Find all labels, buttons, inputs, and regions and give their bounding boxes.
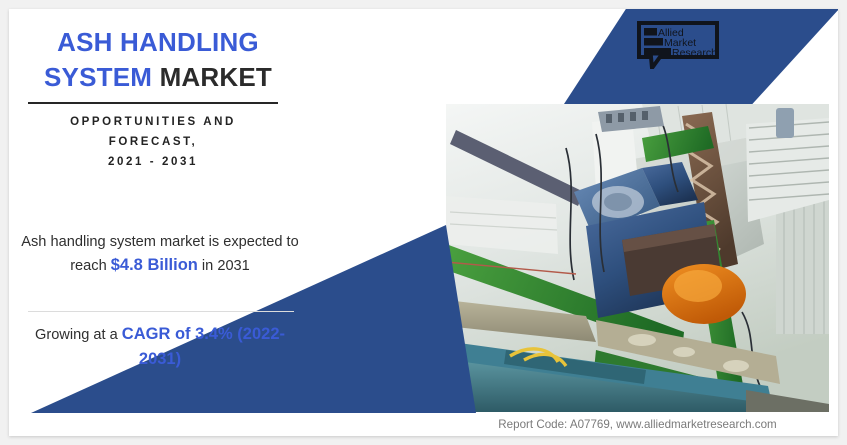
stat-cagr-value: CAGR of 3.4% (2022-2031): [122, 325, 285, 368]
infographic-screen: Allied Market Research ASH HANDLING SYST…: [0, 0, 847, 445]
photo-artwork: [446, 104, 829, 412]
page-title-suffix: MARKET: [160, 62, 272, 92]
stat-divider: [28, 311, 294, 312]
infographic-card: Allied Market Research ASH HANDLING SYST…: [9, 9, 838, 436]
subtitle-line-3: 2021 - 2031: [28, 153, 278, 173]
subtitle: OPPORTUNITIES AND FORECAST, 2021 - 2031: [28, 113, 278, 172]
stat-cagr: Growing at a CAGR of 3.4% (2022-2031): [19, 322, 301, 372]
stat-cagr-prefix: Growing at a: [35, 327, 122, 343]
stat-market-size: Ash handling system market is expected t…: [19, 231, 301, 278]
title-divider: [28, 102, 278, 104]
subtitle-line-2: FORECAST,: [28, 133, 278, 153]
industrial-ash-handling-equipment-photo: [446, 104, 829, 412]
stat-market-size-value: $4.8 Billion: [111, 256, 198, 274]
page-title: ASH HANDLING SYSTEM MARKET: [28, 25, 288, 94]
stat-market-size-suffix: in 2031: [198, 258, 250, 274]
logo-line-3: Research: [672, 47, 717, 59]
allied-market-research-logo[interactable]: Allied Market Research: [636, 21, 720, 69]
subtitle-line-1: OPPORTUNITIES AND: [28, 113, 278, 133]
report-code-caption: Report Code: A07769, www.alliedmarketres…: [446, 418, 829, 431]
